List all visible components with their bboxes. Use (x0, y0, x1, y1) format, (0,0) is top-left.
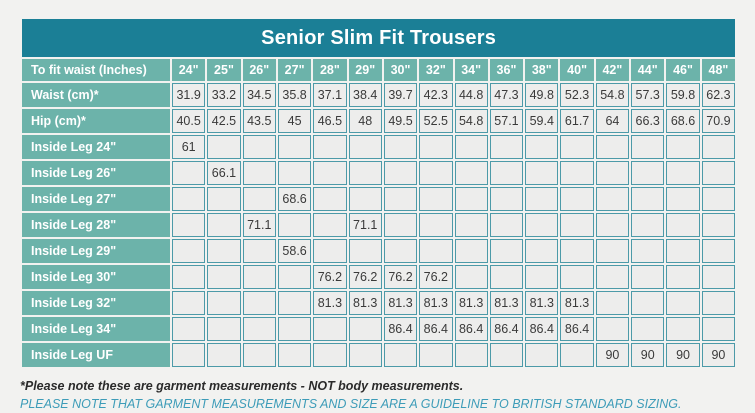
data-cell-empty (313, 343, 346, 367)
data-cell-empty (560, 239, 593, 263)
data-cell: 76.2 (313, 265, 346, 289)
data-cell: 68.6 (278, 187, 311, 211)
data-cell-empty (525, 161, 558, 185)
row-label: Inside Leg 29" (22, 239, 170, 263)
data-cell-empty (384, 213, 417, 237)
data-cell: 81.3 (490, 291, 523, 315)
data-cell-empty (631, 135, 664, 159)
size-column-header: 36" (490, 59, 523, 81)
size-column-header: 29" (349, 59, 382, 81)
data-cell-empty (419, 161, 452, 185)
size-chart-page: Senior Slim Fit Trousers To fit waist (I… (0, 0, 755, 410)
data-cell-empty (596, 265, 629, 289)
data-cell: 57.1 (490, 109, 523, 133)
table-row: Inside Leg 32"81.381.381.381.381.381.381… (22, 291, 735, 315)
data-cell-empty (455, 343, 488, 367)
data-cell-empty (455, 135, 488, 159)
data-cell-empty (172, 317, 205, 341)
data-cell-empty (560, 161, 593, 185)
data-cell-empty (207, 239, 240, 263)
page-title: Senior Slim Fit Trousers (22, 19, 735, 57)
data-cell: 86.4 (525, 317, 558, 341)
data-cell-empty (702, 317, 736, 341)
data-cell: 68.6 (666, 109, 699, 133)
row-label: Inside Leg 26" (22, 161, 170, 185)
row-label: Hip (cm)* (22, 109, 170, 133)
data-cell: 54.8 (596, 83, 629, 107)
data-cell: 86.4 (455, 317, 488, 341)
data-cell-empty (596, 239, 629, 263)
data-cell-empty (490, 239, 523, 263)
data-cell-empty (596, 161, 629, 185)
data-cell: 39.7 (384, 83, 417, 107)
data-cell-empty (172, 265, 205, 289)
size-column-header: 34" (455, 59, 488, 81)
data-cell-empty (631, 187, 664, 211)
row-label: Inside Leg 28" (22, 213, 170, 237)
data-cell: 61.7 (560, 109, 593, 133)
data-cell-empty (278, 317, 311, 341)
size-header-row: To fit waist (Inches) 24"25"26"27"28"29"… (22, 59, 735, 81)
table-header: Senior Slim Fit Trousers To fit waist (I… (22, 19, 735, 81)
data-cell: 90 (596, 343, 629, 367)
data-cell: 86.4 (384, 317, 417, 341)
data-cell-empty (384, 135, 417, 159)
data-cell: 81.3 (525, 291, 558, 315)
data-cell-empty (631, 317, 664, 341)
data-cell: 81.3 (560, 291, 593, 315)
data-cell-empty (560, 265, 593, 289)
data-cell: 86.4 (560, 317, 593, 341)
row-label: Inside Leg 30" (22, 265, 170, 289)
data-cell-empty (419, 343, 452, 367)
data-cell-empty (419, 135, 452, 159)
data-cell-empty (349, 317, 382, 341)
data-cell: 57.3 (631, 83, 664, 107)
data-cell: 46.5 (313, 109, 346, 133)
row-label: Inside Leg 24" (22, 135, 170, 159)
data-cell-empty (666, 135, 699, 159)
data-cell: 52.5 (419, 109, 452, 133)
data-cell-empty (278, 291, 311, 315)
data-cell-empty (172, 239, 205, 263)
table-row: Inside Leg 28"71.171.1 (22, 213, 735, 237)
data-cell-empty (207, 343, 240, 367)
data-cell-empty (455, 239, 488, 263)
data-cell-empty (243, 187, 276, 211)
table-row: Inside Leg 34"86.486.486.486.486.486.4 (22, 317, 735, 341)
data-cell: 59.4 (525, 109, 558, 133)
data-cell-empty (419, 187, 452, 211)
data-cell-empty (702, 265, 736, 289)
data-cell: 61 (172, 135, 205, 159)
data-cell-empty (490, 135, 523, 159)
data-cell-empty (455, 265, 488, 289)
data-cell: 81.3 (455, 291, 488, 315)
data-cell-empty (172, 291, 205, 315)
data-cell-empty (313, 317, 346, 341)
table-row: Inside Leg 29"58.6 (22, 239, 735, 263)
data-cell: 44.8 (455, 83, 488, 107)
data-cell-empty (596, 187, 629, 211)
data-cell: 47.3 (490, 83, 523, 107)
data-cell: 43.5 (243, 109, 276, 133)
data-cell-empty (525, 135, 558, 159)
data-cell-empty (278, 135, 311, 159)
data-cell-empty (455, 161, 488, 185)
data-cell-empty (172, 161, 205, 185)
data-cell-empty (702, 187, 736, 211)
data-cell-empty (702, 239, 736, 263)
data-cell: 52.3 (560, 83, 593, 107)
data-cell: 49.8 (525, 83, 558, 107)
data-cell-empty (666, 291, 699, 315)
data-cell-empty (172, 213, 205, 237)
data-cell: 58.6 (278, 239, 311, 263)
table-row: Waist (cm)*31.933.234.535.837.138.439.74… (22, 83, 735, 107)
data-cell: 42.3 (419, 83, 452, 107)
data-cell-empty (243, 343, 276, 367)
data-cell-empty (207, 265, 240, 289)
data-cell-empty (666, 161, 699, 185)
data-cell-empty (172, 187, 205, 211)
row-label: Inside Leg 32" (22, 291, 170, 315)
data-cell-empty (702, 161, 736, 185)
data-cell: 62.3 (702, 83, 736, 107)
title-row: Senior Slim Fit Trousers (22, 19, 735, 57)
data-cell: 59.8 (666, 83, 699, 107)
table-row: Hip (cm)*40.542.543.54546.54849.552.554.… (22, 109, 735, 133)
data-cell: 35.8 (278, 83, 311, 107)
data-cell-empty (702, 291, 736, 315)
data-cell-empty (666, 317, 699, 341)
data-cell-empty (207, 291, 240, 315)
data-cell: 48 (349, 109, 382, 133)
data-cell-empty (313, 239, 346, 263)
data-cell-empty (313, 213, 346, 237)
size-column-header: 42" (596, 59, 629, 81)
data-cell-empty (349, 161, 382, 185)
data-cell: 66.1 (207, 161, 240, 185)
data-cell-empty (349, 135, 382, 159)
data-cell-empty (384, 187, 417, 211)
data-cell-empty (490, 213, 523, 237)
data-cell: 90 (702, 343, 736, 367)
data-cell-empty (207, 135, 240, 159)
data-cell-empty (349, 239, 382, 263)
data-cell-empty (455, 213, 488, 237)
table-row: Inside Leg UF90909090 (22, 343, 735, 367)
data-cell-empty (243, 317, 276, 341)
data-cell-empty (490, 161, 523, 185)
data-cell-empty (384, 161, 417, 185)
data-cell-empty (631, 239, 664, 263)
data-cell-empty (455, 187, 488, 211)
size-column-header: 44" (631, 59, 664, 81)
data-cell-empty (525, 265, 558, 289)
data-cell: 45 (278, 109, 311, 133)
data-cell-empty (278, 265, 311, 289)
data-cell-empty (631, 161, 664, 185)
table-row: Inside Leg 26"66.1 (22, 161, 735, 185)
data-cell-empty (384, 343, 417, 367)
data-cell: 40.5 (172, 109, 205, 133)
data-cell: 81.3 (349, 291, 382, 315)
data-cell-empty (349, 343, 382, 367)
data-cell: 81.3 (384, 291, 417, 315)
data-cell: 76.2 (349, 265, 382, 289)
data-cell-empty (702, 135, 736, 159)
size-column-header: 26" (243, 59, 276, 81)
data-cell-empty (243, 265, 276, 289)
data-cell-empty (525, 187, 558, 211)
size-column-header: 24" (172, 59, 205, 81)
size-column-header: 46" (666, 59, 699, 81)
data-cell-empty (207, 317, 240, 341)
size-column-header: 25" (207, 59, 240, 81)
table-row: Inside Leg 24"61 (22, 135, 735, 159)
data-cell: 31.9 (172, 83, 205, 107)
data-cell: 70.9 (702, 109, 736, 133)
data-cell: 33.2 (207, 83, 240, 107)
data-cell-empty (525, 213, 558, 237)
footer-notes: *Please note these are garment measureme… (20, 369, 735, 413)
data-cell: 86.4 (419, 317, 452, 341)
data-cell-empty (384, 239, 417, 263)
data-cell: 71.1 (349, 213, 382, 237)
size-column-header: 40" (560, 59, 593, 81)
data-cell: 64 (596, 109, 629, 133)
data-cell: 54.8 (455, 109, 488, 133)
data-cell-empty (666, 187, 699, 211)
data-cell: 38.4 (349, 83, 382, 107)
row-label: Waist (cm)* (22, 83, 170, 107)
data-cell-empty (560, 213, 593, 237)
row-label: Inside Leg 27" (22, 187, 170, 211)
data-cell: 76.2 (384, 265, 417, 289)
data-cell-empty (313, 187, 346, 211)
data-cell: 71.1 (243, 213, 276, 237)
data-cell: 76.2 (419, 265, 452, 289)
data-cell-empty (207, 187, 240, 211)
label-column-header: To fit waist (Inches) (22, 59, 170, 81)
data-cell-empty (243, 239, 276, 263)
size-column-header: 48" (702, 59, 736, 81)
data-cell: 90 (631, 343, 664, 367)
data-cell: 37.1 (313, 83, 346, 107)
data-cell-empty (666, 213, 699, 237)
data-cell-empty (419, 239, 452, 263)
data-cell-empty (207, 213, 240, 237)
data-cell-empty (278, 161, 311, 185)
data-cell-empty (243, 135, 276, 159)
data-cell-empty (596, 213, 629, 237)
data-cell-empty (666, 265, 699, 289)
data-cell: 86.4 (490, 317, 523, 341)
data-cell-empty (278, 343, 311, 367)
data-cell-empty (631, 291, 664, 315)
note-secondary: PLEASE NOTE THAT GARMENT MEASUREMENTS AN… (20, 395, 735, 413)
data-cell: 81.3 (313, 291, 346, 315)
row-label: Inside Leg UF (22, 343, 170, 367)
data-cell-empty (702, 213, 736, 237)
data-cell-empty (560, 187, 593, 211)
data-cell: 42.5 (207, 109, 240, 133)
data-cell-empty (525, 239, 558, 263)
size-column-header: 32" (419, 59, 452, 81)
data-cell-empty (243, 161, 276, 185)
data-cell-empty (490, 343, 523, 367)
data-cell-empty (419, 213, 452, 237)
data-cell-empty (560, 135, 593, 159)
data-cell-empty (596, 291, 629, 315)
data-cell: 90 (666, 343, 699, 367)
note-primary: *Please note these are garment measureme… (20, 378, 735, 395)
data-cell-empty (560, 343, 593, 367)
data-cell-empty (172, 343, 205, 367)
data-cell-empty (596, 135, 629, 159)
data-cell-empty (278, 213, 311, 237)
data-cell-empty (490, 265, 523, 289)
data-cell-empty (631, 265, 664, 289)
size-column-header: 30" (384, 59, 417, 81)
data-cell-empty (490, 187, 523, 211)
row-label: Inside Leg 34" (22, 317, 170, 341)
table-row: Inside Leg 27"68.6 (22, 187, 735, 211)
data-cell: 49.5 (384, 109, 417, 133)
size-column-header: 27" (278, 59, 311, 81)
data-cell-empty (243, 291, 276, 315)
data-cell-empty (349, 187, 382, 211)
data-cell-empty (313, 135, 346, 159)
size-column-header: 28" (313, 59, 346, 81)
data-cell: 81.3 (419, 291, 452, 315)
data-cell-empty (666, 239, 699, 263)
table-row: Inside Leg 30"76.276.276.276.2 (22, 265, 735, 289)
data-cell: 34.5 (243, 83, 276, 107)
data-cell-empty (631, 213, 664, 237)
data-cell: 66.3 (631, 109, 664, 133)
data-cell-empty (596, 317, 629, 341)
size-chart-table: Senior Slim Fit Trousers To fit waist (I… (20, 17, 737, 369)
size-column-header: 38" (525, 59, 558, 81)
data-cell-empty (525, 343, 558, 367)
data-cell-empty (313, 161, 346, 185)
table-body: Waist (cm)*31.933.234.535.837.138.439.74… (22, 83, 735, 367)
